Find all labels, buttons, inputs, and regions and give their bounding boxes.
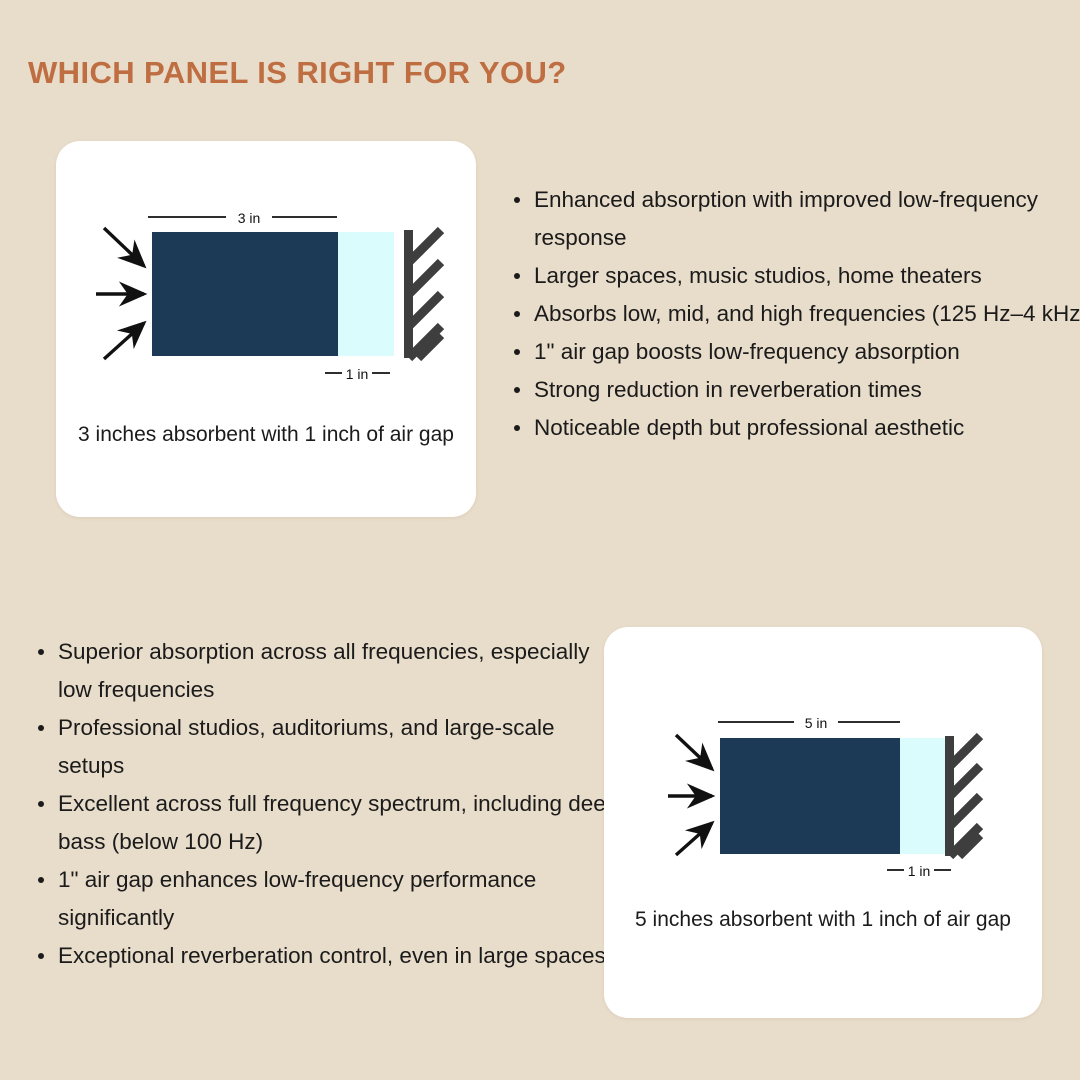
- dimension-line-absorbent: 3 in: [148, 210, 337, 226]
- svg-text:1 in: 1 in: [908, 863, 931, 879]
- panel-card-3-inch: 3 in: [56, 141, 476, 517]
- svg-text:5 in: 5 in: [805, 715, 828, 731]
- wall-hatch: [404, 230, 441, 358]
- svg-text:3 in: 3 in: [238, 210, 261, 226]
- air-gap-block: [338, 232, 394, 356]
- dimension-line-absorbent: 5 in: [718, 715, 900, 731]
- sound-arrows: [96, 228, 144, 359]
- list-item: 1" air gap enhances low-frequency perfor…: [58, 861, 620, 937]
- list-item: Excellent across full frequency spectrum…: [58, 785, 620, 861]
- panel-diagram-3-inch: 3 in: [56, 141, 476, 411]
- list-item: Larger spaces, music studios, home theat…: [534, 257, 1080, 295]
- list-item: Absorbs low, mid, and high frequencies (…: [534, 295, 1080, 333]
- list-item: Enhanced absorption with improved low-fr…: [534, 181, 1080, 257]
- dimension-line-air-gap: 1 in: [325, 366, 390, 382]
- benefits-list-5-inch: Superior absorption across all frequenci…: [32, 633, 620, 975]
- list-item: Professional studios, auditoriums, and l…: [58, 709, 620, 785]
- infographic-page: WHICH PANEL IS RIGHT FOR YOU? 3 in: [0, 0, 1080, 1080]
- dimension-line-air-gap: 1 in: [887, 863, 951, 879]
- list-item: Noticeable depth but professional aesthe…: [534, 409, 1080, 447]
- absorbent-block: [720, 738, 900, 854]
- panel-caption-5-inch: 5 inches absorbent with 1 inch of air ga…: [622, 904, 1024, 935]
- sound-arrows: [668, 735, 712, 855]
- panel-card-5-inch: 5 in: [604, 627, 1042, 1018]
- benefits-list-3-inch: Enhanced absorption with improved low-fr…: [508, 181, 1080, 447]
- wall-hatch: [945, 736, 980, 856]
- panel-diagram-5-inch: 5 in: [604, 627, 1042, 899]
- list-item: Superior absorption across all frequenci…: [58, 633, 620, 709]
- list-item: 1" air gap boosts low-frequency absorpti…: [534, 333, 1080, 371]
- page-title: WHICH PANEL IS RIGHT FOR YOU?: [28, 55, 567, 91]
- svg-text:1 in: 1 in: [346, 366, 369, 382]
- list-item: Exceptional reverberation control, even …: [58, 937, 620, 975]
- list-item: Strong reduction in reverberation times: [534, 371, 1080, 409]
- absorbent-block: [152, 232, 338, 356]
- panel-caption-3-inch: 3 inches absorbent with 1 inch of air ga…: [74, 419, 458, 450]
